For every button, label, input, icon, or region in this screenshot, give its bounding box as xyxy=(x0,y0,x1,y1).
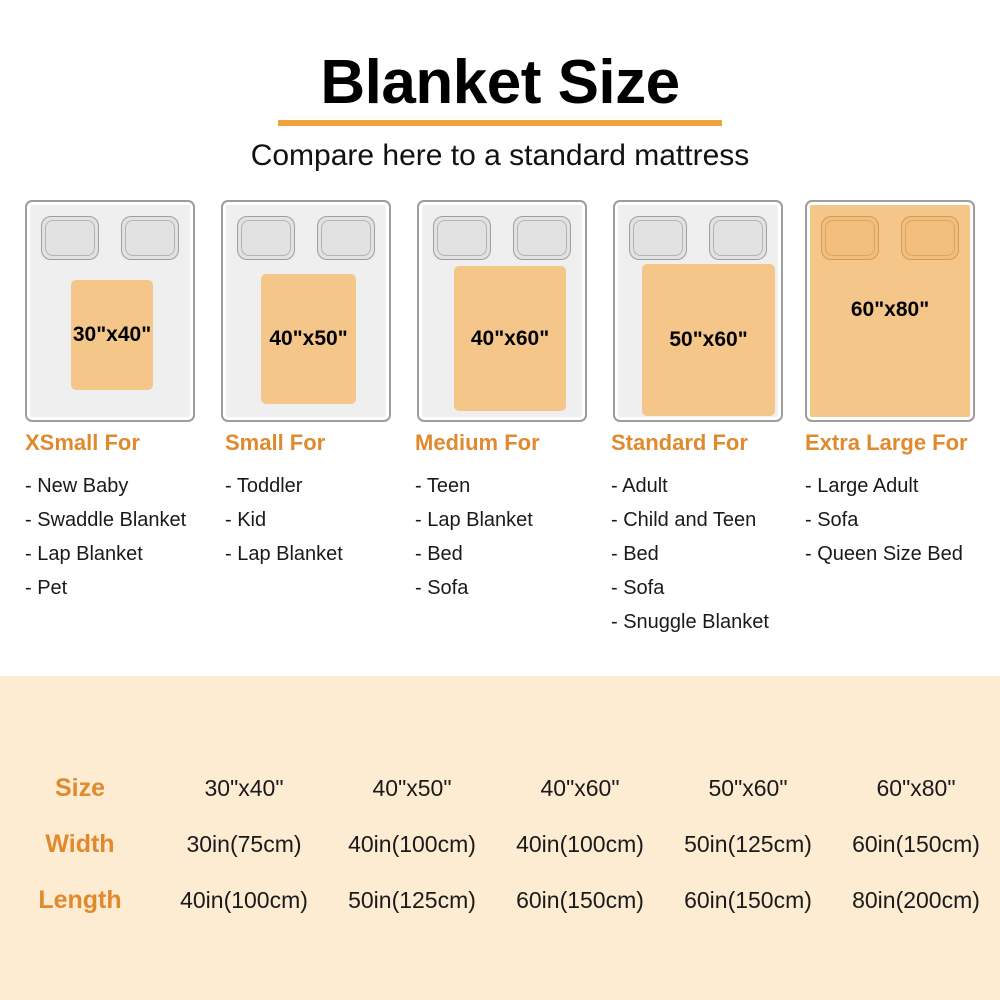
table-row: Size 30"x40" 40"x50" 40"x60" 50"x60" 60"… xyxy=(0,760,1000,816)
row-label-length: Length xyxy=(0,872,160,928)
table-cell: 50in(125cm) xyxy=(328,872,496,928)
category-list-item: - Sofa xyxy=(415,571,611,605)
table-cell: 40"x50" xyxy=(328,760,496,816)
category-list-item: - Bed xyxy=(415,537,611,571)
pillow-icon xyxy=(433,216,491,260)
bed-diagram-xsmall: 30"x40" xyxy=(25,200,195,422)
spec-table-section: Size 30"x40" 40"x50" 40"x60" 50"x60" 60"… xyxy=(0,676,1000,1000)
pillow-icon xyxy=(237,216,295,260)
pillow-icon xyxy=(317,216,375,260)
category-list-item: - Sofa xyxy=(805,503,1000,537)
blanket-rect: 50"x60" xyxy=(642,264,775,416)
category-list-item: - Lap Blanket xyxy=(225,537,415,571)
table-cell: 60"x80" xyxy=(832,760,1000,816)
bed-diagrams-row: 30"x40" 40"x50" 40"x60" xyxy=(0,200,1000,425)
blanket-size-label: 30"x40" xyxy=(73,323,151,347)
category-standard: Standard For - Adult - Child and Teen - … xyxy=(611,430,807,639)
category-list-item: - Lap Blanket xyxy=(25,537,221,571)
category-list-item: - Kid xyxy=(225,503,415,537)
mattress-icon: 40"x60" xyxy=(417,200,587,422)
blanket-size-label: 40"x50" xyxy=(269,327,347,351)
bed-diagram-small: 40"x50" xyxy=(221,200,391,422)
category-list-item: - New Baby xyxy=(25,469,221,503)
pillow-icon xyxy=(121,216,179,260)
pillow-icon xyxy=(901,216,959,260)
table-cell: 40in(100cm) xyxy=(496,816,664,872)
category-title: XSmall For xyxy=(25,430,221,456)
table-cell: 40"x60" xyxy=(496,760,664,816)
page-title: Blanket Size xyxy=(320,0,679,114)
pillow-icon xyxy=(821,216,879,260)
table-cell: 40in(100cm) xyxy=(160,872,328,928)
bed-diagram-medium: 40"x60" xyxy=(417,200,587,422)
mattress-icon: 50"x60" xyxy=(613,200,783,422)
table-cell: 80in(200cm) xyxy=(832,872,1000,928)
category-title: Small For xyxy=(225,430,415,456)
blanket-size-infographic: Blanket Size Compare here to a standard … xyxy=(0,0,1000,1000)
table-cell: 50"x60" xyxy=(664,760,832,816)
category-list-item: - Teen xyxy=(415,469,611,503)
category-list-item: - Toddler xyxy=(225,469,415,503)
table-row: Width 30in(75cm) 40in(100cm) 40in(100cm)… xyxy=(0,816,1000,872)
category-list-item: - Sofa xyxy=(611,571,807,605)
table-cell: 50in(125cm) xyxy=(664,816,832,872)
category-list-item: - Bed xyxy=(611,537,807,571)
category-list-item: - Large Adult xyxy=(805,469,1000,503)
header: Blanket Size Compare here to a standard … xyxy=(0,0,1000,173)
spec-table: Size 30"x40" 40"x50" 40"x60" 50"x60" 60"… xyxy=(0,760,1000,928)
category-list-item: - Queen Size Bed xyxy=(805,537,1000,571)
mattress-icon: 30"x40" xyxy=(25,200,195,422)
page-subtitle: Compare here to a standard mattress xyxy=(0,139,1000,173)
category-list-item: - Lap Blanket xyxy=(415,503,611,537)
blanket-rect: 30"x40" xyxy=(71,280,153,390)
table-cell: 30"x40" xyxy=(160,760,328,816)
mattress-icon: 40"x50" xyxy=(221,200,391,422)
category-list-item: - Snuggle Blanket xyxy=(611,605,807,639)
category-list-item: - Swaddle Blanket xyxy=(25,503,221,537)
table-row: Length 40in(100cm) 50in(125cm) 60in(150c… xyxy=(0,872,1000,928)
pillow-icon xyxy=(629,216,687,260)
table-cell: 60in(150cm) xyxy=(664,872,832,928)
bed-diagram-extra-large: 60"x80" xyxy=(805,200,975,422)
mattress-icon: 60"x80" xyxy=(805,200,975,422)
category-xsmall: XSmall For - New Baby - Swaddle Blanket … xyxy=(25,430,221,605)
category-list-item: - Child and Teen xyxy=(611,503,807,537)
blanket-size-label: 40"x60" xyxy=(471,327,549,351)
category-medium: Medium For - Teen - Lap Blanket - Bed - … xyxy=(415,430,611,605)
category-list-item: - Adult xyxy=(611,469,807,503)
blanket-size-label: 60"x80" xyxy=(807,298,973,322)
table-cell: 60in(150cm) xyxy=(496,872,664,928)
category-extra-large: Extra Large For - Large Adult - Sofa - Q… xyxy=(805,430,1000,571)
category-small: Small For - Toddler - Kid - Lap Blanket xyxy=(225,430,415,571)
category-title: Extra Large For xyxy=(805,430,1000,456)
blanket-size-label: 50"x60" xyxy=(669,328,747,352)
category-title: Standard For xyxy=(611,430,807,456)
table-cell: 30in(75cm) xyxy=(160,816,328,872)
pillow-icon xyxy=(513,216,571,260)
category-list-item: - Pet xyxy=(25,571,221,605)
pillow-icon xyxy=(41,216,99,260)
blanket-rect: 40"x60" xyxy=(454,266,566,411)
table-cell: 40in(100cm) xyxy=(328,816,496,872)
row-label-size: Size xyxy=(0,760,160,816)
blanket-rect: 40"x50" xyxy=(261,274,356,404)
row-label-width: Width xyxy=(0,816,160,872)
category-title: Medium For xyxy=(415,430,611,456)
table-cell: 60in(150cm) xyxy=(832,816,1000,872)
pillow-icon xyxy=(709,216,767,260)
title-underline xyxy=(278,120,722,126)
bed-diagram-standard: 50"x60" xyxy=(613,200,783,422)
